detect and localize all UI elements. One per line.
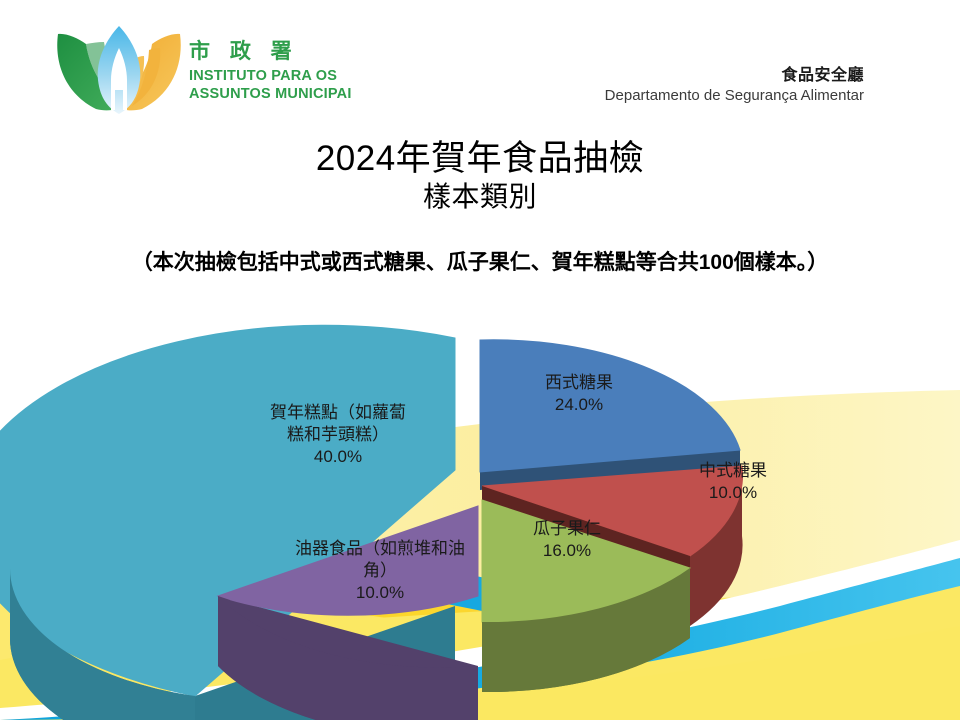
slice-label-new-year-cakes-pct: 40.0% [248, 446, 428, 468]
slice-label-new-year-cakes: 賀年糕點（如蘿蔔 糕和芋頭糕） 40.0% [248, 402, 428, 467]
slice-label-fried-foods-pct: 10.0% [290, 582, 470, 604]
slice-label-western-candy-name: 西式糖果 [545, 373, 613, 392]
slice-label-seeds-nuts: 瓜子果仁 16.0% [492, 518, 642, 562]
slice-label-new-year-cakes-line2: 糕和芋頭糕） [248, 424, 428, 446]
slice-label-chinese-candy: 中式糖果 10.0% [658, 460, 808, 504]
title-line-1: 2024年賀年食品抽檢 [0, 138, 960, 179]
pie-chart: 西式糖果 24.0% 中式糖果 10.0% 瓜子果仁 16.0% 油器食品（如煎… [0, 300, 960, 720]
slice-label-seeds-nuts-pct: 16.0% [492, 540, 642, 562]
slice-label-fried-foods-line2: 角） [290, 560, 470, 582]
slide: 市 政 署 INSTITUTO PARA OS ASSUNTOS MUNICIP… [0, 0, 960, 720]
logo-portuguese-line1: INSTITUTO PARA OS [189, 68, 337, 84]
slice-label-fried-foods-line1: 油器食品（如煎堆和油 [295, 539, 465, 558]
department-name-pt: Departamento de Segurança Alimentar [605, 87, 864, 106]
slice-label-new-year-cakes-line1: 賀年糕點（如蘿蔔 [270, 403, 406, 422]
slice-label-western-candy-pct: 24.0% [504, 394, 654, 416]
slice-label-fried-foods: 油器食品（如煎堆和油 角） 10.0% [290, 538, 470, 603]
title-line-2: 樣本類別 [0, 179, 960, 214]
slice-label-seeds-nuts-name: 瓜子果仁 [533, 519, 601, 538]
pie-chart-svg [0, 300, 960, 720]
page-title: 2024年賀年食品抽檢 樣本類別 [0, 138, 960, 214]
department-header: 食品安全廳 Departamento de Segurança Alimenta… [605, 66, 864, 106]
logo-chinese-text: 市 政 署 [189, 39, 299, 63]
slice-label-western-candy: 西式糖果 24.0% [504, 372, 654, 416]
slice-label-chinese-candy-pct: 10.0% [658, 482, 808, 504]
department-name-zh: 食品安全廳 [605, 66, 864, 86]
slice-label-chinese-candy-name: 中式糖果 [699, 461, 767, 480]
iam-logo: 市 政 署 INSTITUTO PARA OS ASSUNTOS MUNICIP… [52, 18, 352, 118]
logo-portuguese-line2: ASSUNTOS MUNICIPAIS [189, 86, 352, 102]
page-subtitle: （本次抽檢包括中式或西式糖果、瓜子果仁、賀年糕點等合共100個樣本。） [0, 246, 960, 276]
